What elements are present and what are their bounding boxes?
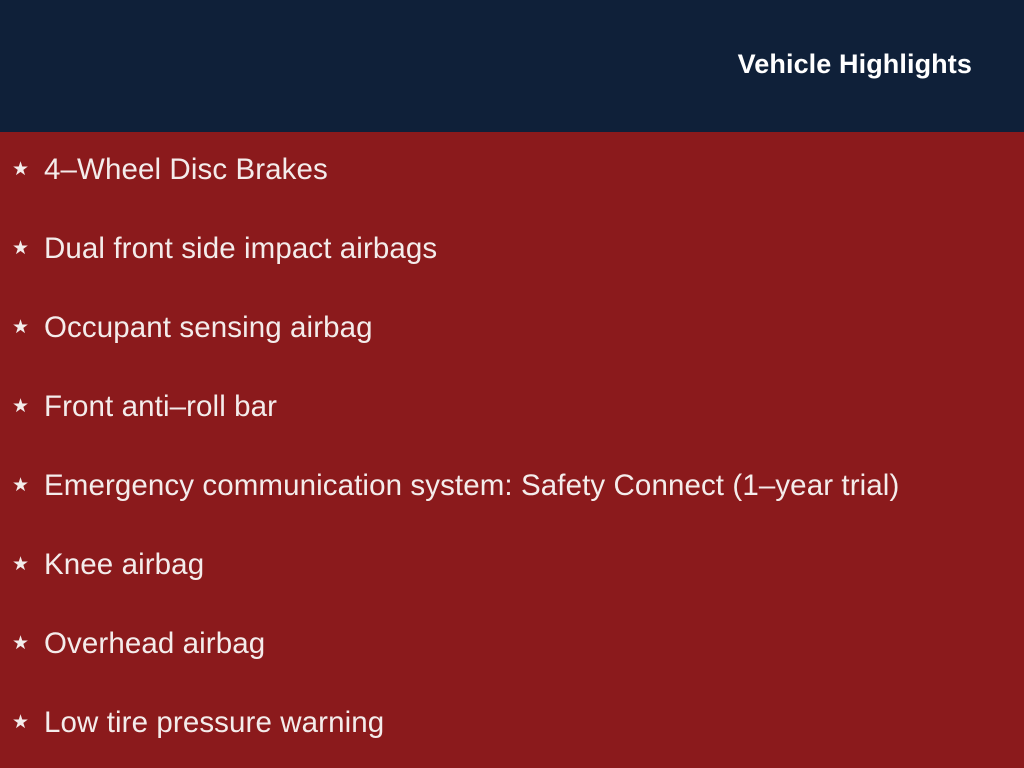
list-item: ★ Knee airbag bbox=[12, 545, 1012, 585]
star-bullet-icon: ★ bbox=[12, 239, 32, 258]
star-bullet-icon: ★ bbox=[12, 555, 32, 574]
vehicle-highlights-slide: Vehicle Highlights ★ 4–Wheel Disc Brakes… bbox=[0, 0, 1024, 768]
star-bullet-icon: ★ bbox=[12, 476, 32, 495]
list-item: ★ 4–Wheel Disc Brakes bbox=[12, 150, 1012, 190]
vehicle-features-list: ★ 4–Wheel Disc Brakes ★ Dual front side … bbox=[0, 132, 1024, 768]
star-bullet-icon: ★ bbox=[12, 397, 32, 416]
feature-label: 4–Wheel Disc Brakes bbox=[44, 152, 328, 188]
feature-label: Occupant sensing airbag bbox=[44, 310, 373, 346]
star-bullet-icon: ★ bbox=[12, 713, 32, 732]
feature-label: Knee airbag bbox=[44, 547, 204, 583]
feature-label: Emergency communication system: Safety C… bbox=[44, 468, 899, 504]
list-item: ★ Emergency communication system: Safety… bbox=[12, 466, 1012, 506]
star-bullet-icon: ★ bbox=[12, 634, 32, 653]
feature-label: Front anti–roll bar bbox=[44, 389, 277, 425]
page-title: Vehicle Highlights bbox=[738, 48, 972, 80]
list-item: ★ Low tire pressure warning bbox=[12, 703, 1012, 743]
feature-label: Overhead airbag bbox=[44, 626, 265, 662]
slide-header-bar: Vehicle Highlights bbox=[0, 0, 1024, 132]
feature-label: Dual front side impact airbags bbox=[44, 231, 437, 267]
list-item: ★ Front anti–roll bar bbox=[12, 387, 1012, 427]
star-bullet-icon: ★ bbox=[12, 160, 32, 179]
feature-label: Low tire pressure warning bbox=[44, 705, 384, 741]
list-item: ★ Dual front side impact airbags bbox=[12, 229, 1012, 269]
list-item: ★ Occupant sensing airbag bbox=[12, 308, 1012, 348]
list-item: ★ Overhead airbag bbox=[12, 624, 1012, 664]
star-bullet-icon: ★ bbox=[12, 318, 32, 337]
